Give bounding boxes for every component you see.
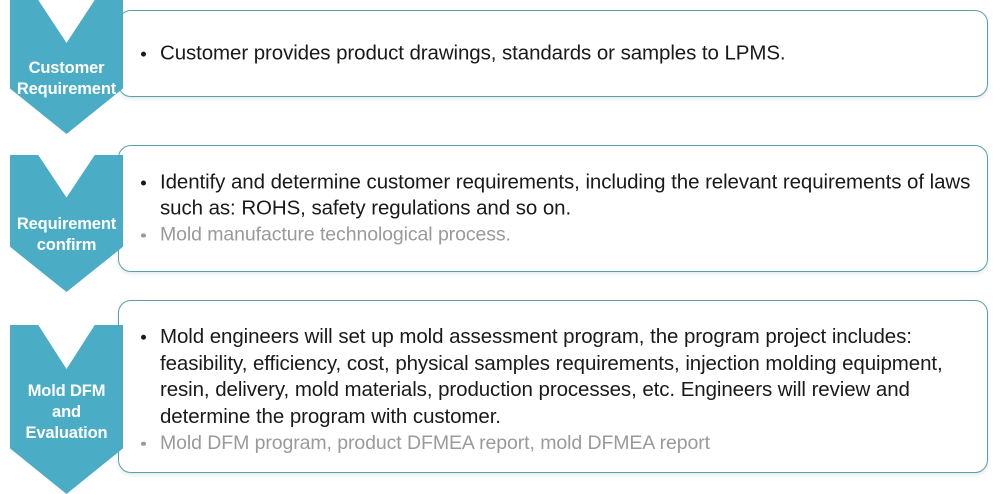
bullet-list: Mold engineers will set up mold assessme… (137, 324, 973, 456)
step-chevron-customer-requirement: Customer Requirement (10, 0, 123, 134)
chevron-label-line: Mold DFM (10, 381, 123, 402)
process-flow-diagram: Customer provides product drawings, stan… (0, 0, 1000, 494)
bullet-item-secondary: Mold manufacture technological process. (137, 223, 973, 248)
bullet-item-primary: Customer provides product drawings, stan… (137, 40, 973, 67)
chevron-label-line: Requirement (10, 79, 123, 100)
bullet-item-primary: Mold engineers will set up mold assessme… (137, 324, 973, 431)
bullet-list: Identify and determine customer requirem… (137, 169, 973, 248)
chevron-label-line: Customer (10, 58, 123, 79)
bullet-item-secondary: Mold DFM program, product DFMEA report, … (137, 431, 973, 456)
bullet-item-primary: Identify and determine customer requirem… (137, 169, 973, 223)
step-content-box: Mold engineers will set up mold assessme… (118, 300, 988, 473)
step-chevron-label: Customer Requirement (10, 58, 123, 100)
chevron-label-line: Evaluation (10, 423, 123, 444)
chevron-label-line: and (10, 402, 123, 423)
step-chevron-label: Mold DFM and Evaluation (10, 381, 123, 443)
step-content-box: Customer provides product drawings, stan… (118, 10, 988, 97)
step-chevron-mold-dfm-and-evaluation: Mold DFM and Evaluation (10, 325, 123, 494)
step-chevron-label: Requirement confirm (10, 214, 123, 256)
chevron-label-line: confirm (10, 235, 123, 256)
step-chevron-requirement-confirm: Requirement confirm (10, 155, 123, 292)
step-content-box: Identify and determine customer requirem… (118, 145, 988, 272)
chevron-label-line: Requirement (10, 214, 123, 235)
bullet-list: Customer provides product drawings, stan… (137, 40, 973, 67)
